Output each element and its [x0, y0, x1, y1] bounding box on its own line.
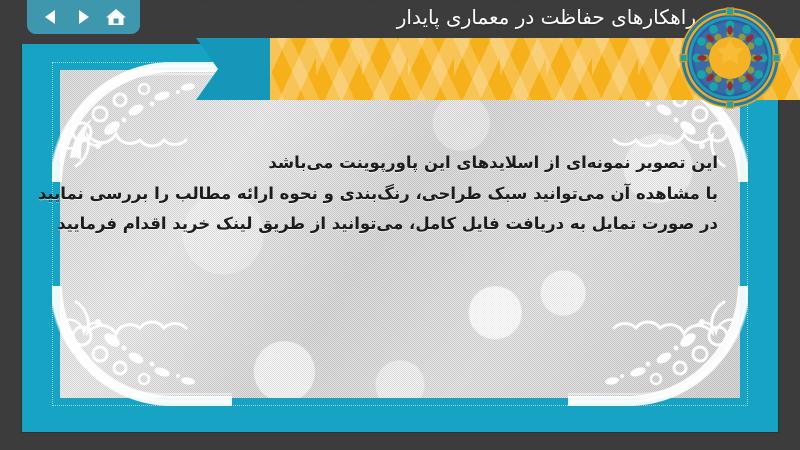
slide-body-text: این تصویر نمونه‌ای از اسلایدهای این پاور…	[82, 148, 718, 240]
islamic-geometric-medallion-icon	[678, 6, 782, 110]
home-icon[interactable]	[103, 5, 129, 29]
body-line-2: با مشاهده آن می‌توانید سبک طراحی، رنگ‌بن…	[82, 179, 718, 210]
forward-triangle-icon[interactable]	[70, 5, 96, 29]
navigation-toolbar[interactable]	[27, 0, 140, 34]
body-line-1: این تصویر نمونه‌ای از اسلایدهای این پاور…	[82, 148, 718, 179]
slide-viewer: این تصویر نمونه‌ای از اسلایدهای این پاور…	[0, 0, 800, 450]
body-line-3: در صورت تمایل به دریافت فایل کامل، می‌تو…	[82, 209, 718, 240]
back-triangle-icon[interactable]	[38, 5, 64, 29]
banner-arrow-tail	[196, 38, 270, 100]
slide-frame: این تصویر نمونه‌ای از اسلایدهای این پاور…	[22, 44, 778, 432]
